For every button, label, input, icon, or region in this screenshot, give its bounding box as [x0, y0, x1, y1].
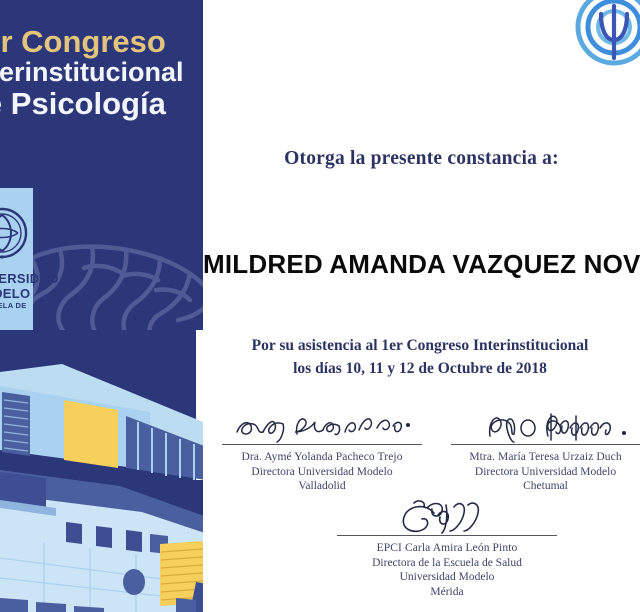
- signer-extra: Mérida: [337, 585, 557, 600]
- congress-title-line-1: 1er Congreso: [0, 26, 203, 58]
- badge-line-1: UNIVERSIDAD: [0, 272, 36, 287]
- congress-title-line-3: de Psicología: [0, 87, 203, 120]
- reason-text: Por su asistencia al 1er Congreso Interi…: [200, 334, 640, 381]
- signer-campus: Chetumal: [451, 479, 640, 494]
- universidad-modelo-badge-text: UNIVERSIDAD MODELO ESCUELA DE: [0, 272, 36, 310]
- badge-line-2: MODELO: [0, 287, 36, 302]
- signature-block-right: Mtra. María Teresa Urzaiz Duch Directora…: [451, 406, 640, 494]
- signature-rule: [451, 444, 640, 445]
- signature-rule: [222, 444, 422, 445]
- handwritten-signature-maria-icon: [451, 406, 640, 444]
- congress-title: 1er Congreso Interinstitucional de Psico…: [0, 26, 203, 120]
- badge-line-3: ESCUELA DE: [0, 302, 36, 310]
- signature-block-left: Dra. Aymé Yolanda Pacheco Trejo Director…: [222, 406, 422, 494]
- signature-caption: Dra. Aymé Yolanda Pacheco Trejo Director…: [222, 450, 422, 494]
- signature-caption: Mtra. María Teresa Urzaiz Duch Directora…: [451, 450, 640, 494]
- signer-campus: Valladolid: [222, 479, 422, 494]
- certificate-document: UNIVERSIDAD MODELO ESCUELA DE 1er Congre…: [0, 0, 640, 612]
- grant-line: Otorga la presente constancia a:: [203, 148, 640, 170]
- signer-name: Dra. Aymé Yolanda Pacheco Trejo: [222, 450, 422, 465]
- handwritten-signature-aymé-icon: [222, 406, 422, 444]
- signer-title: Directora de la Escuela de Salud: [337, 556, 557, 571]
- congress-title-line-2: Interinstitucional: [0, 58, 203, 87]
- signer-name: Mtra. María Teresa Urzaiz Duch: [451, 450, 640, 465]
- universidad-modelo-seal-icon: [0, 205, 30, 261]
- signer-title: Directora Universidad Modelo: [451, 465, 640, 480]
- reason-line-2: los días 10, 11 y 12 de Octubre de 2018: [200, 357, 640, 380]
- signer-title: Directora Universidad Modelo: [222, 465, 422, 480]
- handwritten-signature-carla-icon: [337, 497, 557, 535]
- signer-name: EPCI Carla Amira León Pinto: [337, 541, 557, 556]
- modelo-university-building-illustration: [0, 330, 203, 612]
- signature-caption: EPCI Carla Amira León Pinto Directora de…: [337, 541, 557, 600]
- signer-campus: Universidad Modelo: [337, 570, 557, 585]
- signature-block-center: EPCI Carla Amira León Pinto Directora de…: [337, 497, 557, 600]
- reason-line-1: Por su asistencia al 1er Congreso Interi…: [200, 334, 640, 357]
- psi-congress-logo-icon: [575, 0, 640, 66]
- left-decorative-panel: UNIVERSIDAD MODELO ESCUELA DE 1er Congre…: [0, 0, 203, 612]
- recipient-name: MILDRED AMANDA VAZQUEZ NOV: [203, 249, 640, 280]
